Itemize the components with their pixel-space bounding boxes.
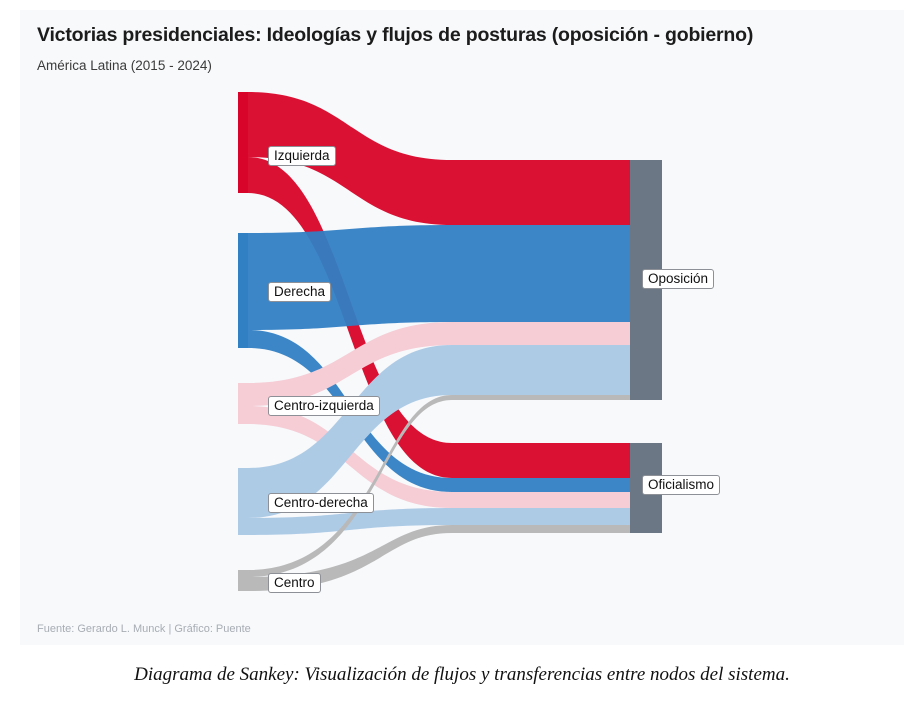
sankey-diagram — [20, 10, 904, 645]
chart-source: Fuente: Gerardo L. Munck | Gráfico: Puen… — [37, 623, 251, 635]
node-label-derecha[interactable]: Derecha — [268, 282, 331, 302]
node-bar-centro-derecha[interactable] — [238, 468, 248, 535]
node-label-centro-izquierda[interactable]: Centro-izquierda — [268, 396, 380, 416]
node-bar-centro[interactable] — [238, 570, 248, 591]
screenshot-root: Victorias presidenciales: Ideologías y f… — [0, 0, 924, 724]
node-bar-derecha[interactable] — [238, 233, 248, 348]
figure-caption: Diagrama de Sankey: Visualización de flu… — [0, 664, 924, 686]
node-label-centro-derecha[interactable]: Centro-derecha — [268, 493, 374, 513]
node-label-oposicion[interactable]: Oposición — [642, 269, 714, 289]
node-label-centro[interactable]: Centro — [268, 573, 321, 593]
chart-card: Victorias presidenciales: Ideologías y f… — [20, 10, 904, 645]
node-bar-centro-izquierda[interactable] — [238, 383, 248, 424]
node-bar-izquierda[interactable] — [238, 92, 248, 193]
link-derecha-oposicion — [248, 225, 630, 330]
node-label-oficialismo[interactable]: Oficialismo — [642, 475, 720, 495]
node-label-izquierda[interactable]: Izquierda — [268, 146, 336, 166]
